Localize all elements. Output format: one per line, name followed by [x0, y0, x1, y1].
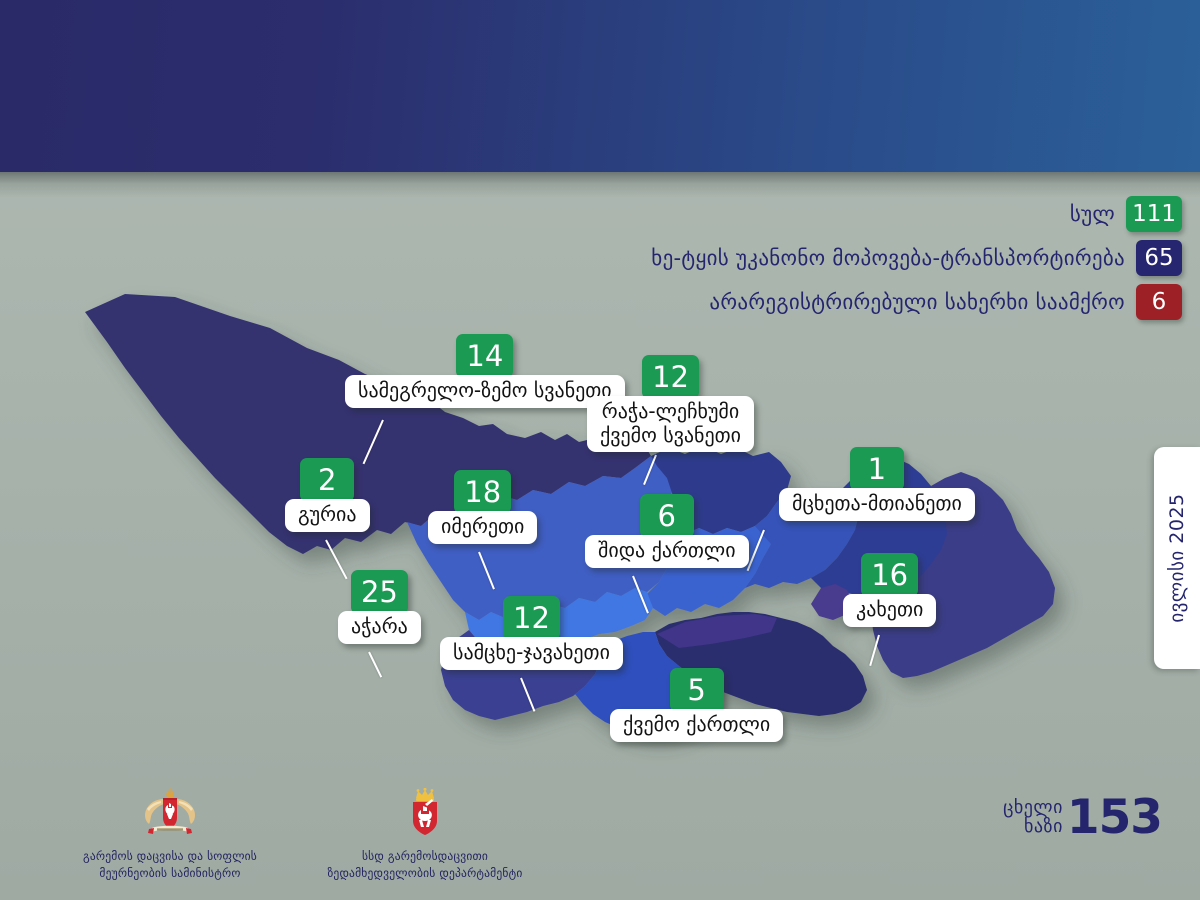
callout-label-kvemo-kartli: ქვემო ქართლი: [610, 709, 783, 742]
legend-label-illegal-logging: ხე-ტყის უკანონო მოპოვება-ტრანსპორტირება: [651, 248, 1125, 269]
callout-value-kakheti: 16: [861, 553, 918, 597]
callout-kvemo-kartli[interactable]: 5 ქვემო ქართლი: [610, 668, 783, 742]
hotline-word-line2: ხაზი: [1003, 818, 1063, 836]
georgia-coat-of-arms-icon: [138, 788, 202, 838]
callout-label-shida-kartli: შიდა ქართლი: [585, 535, 749, 568]
footer-logo-department: სსდ გარემოსდაცვითი ზედამხედველობის დეპარ…: [305, 788, 545, 881]
callout-shida-kartli[interactable]: 6 შიდა ქართლი: [585, 494, 749, 568]
legend: სულ 111 ხე-ტყის უკანონო მოპოვება-ტრანსპო…: [651, 196, 1182, 328]
callout-samtskhe-javakheti[interactable]: 12 სამცხე-ჯავახეთი: [440, 596, 623, 670]
callout-label-guria: გურია: [285, 499, 370, 532]
callout-label-samtskhe: სამცხე-ჯავახეთი: [440, 637, 623, 670]
department-emblem-icon: [401, 788, 449, 838]
callout-label-imereti: იმერეთი: [428, 511, 537, 544]
header-band: [0, 0, 1200, 172]
legend-row-illegal-logging: ხე-ტყის უკანონო მოპოვება-ტრანსპორტირება …: [651, 240, 1182, 276]
callout-mtskheta-mtianeti[interactable]: 1 მცხეთა-მთიანეთი: [779, 447, 975, 521]
legend-label-unregistered-sawmill: არარეგისტრირებული სახერხი საამქრო: [709, 292, 1125, 313]
hotline-words: ცხელი ხაზი: [1003, 799, 1063, 836]
callout-guria[interactable]: 2 გურია: [285, 458, 370, 532]
date-tab-label: ივლისი 2025: [1166, 493, 1188, 622]
callout-adjara[interactable]: 25 აჭარა: [338, 570, 421, 644]
legend-badge-unregistered-sawmill: 6: [1136, 284, 1182, 320]
callout-value-guria: 2: [300, 458, 354, 502]
legend-row-total: სულ 111: [651, 196, 1182, 232]
callout-value-racha: 12: [642, 355, 699, 399]
callout-value-shida-kartli: 6: [640, 494, 694, 538]
callout-racha-lechkhumi[interactable]: 12 რაჭა-ლეჩხუმი ქვემო სვანეთი: [587, 355, 754, 452]
callout-label-kakheti: კახეთი: [843, 594, 936, 627]
callout-value-imereti: 18: [454, 470, 511, 514]
callout-label-samegrelo: სამეგრელო-ზემო სვანეთი: [345, 375, 625, 408]
footer-logo-ministry: გარემოს დაცვისა და სოფლის მეურნეობის სამ…: [60, 788, 280, 881]
footer-logo-caption-ministry: გარემოს დაცვისა და სოფლის მეურნეობის სამ…: [60, 848, 280, 881]
callout-samegrelo-zemo-svaneti[interactable]: 14 სამეგრელო-ზემო სვანეთი: [345, 334, 625, 408]
callout-label-mtskheta: მცხეთა-მთიანეთი: [779, 488, 975, 521]
callout-label-racha: რაჭა-ლეჩხუმი ქვემო სვანეთი: [587, 396, 754, 452]
infographic-poster: უკანონო ტყითსარგებლობის სტატისტიკა სულ 1…: [0, 0, 1200, 900]
legend-label-total: სულ: [1070, 204, 1115, 225]
hotline-number: 153: [1067, 798, 1162, 838]
callout-value-samtskhe: 12: [503, 596, 560, 640]
callout-value-mtskheta: 1: [850, 447, 904, 491]
callout-imereti[interactable]: 18 იმერეთი: [428, 470, 537, 544]
callout-label-adjara: აჭარა: [338, 611, 421, 644]
legend-row-unregistered-sawmill: არარეგისტრირებული სახერხი საამქრო 6: [651, 284, 1182, 320]
header-shadow: [0, 172, 1200, 198]
callout-value-samegrelo: 14: [456, 334, 513, 378]
legend-badge-illegal-logging: 65: [1136, 240, 1182, 276]
hotline: ცხელი ხაზი 153: [1003, 798, 1162, 838]
legend-badge-total: 111: [1126, 196, 1182, 232]
callout-value-adjara: 25: [351, 570, 408, 614]
callout-kakheti[interactable]: 16 კახეთი: [843, 553, 936, 627]
date-tab: ივლისი 2025: [1154, 447, 1200, 669]
footer-logo-caption-department: სსდ გარემოსდაცვითი ზედამხედველობის დეპარ…: [305, 848, 545, 881]
callout-value-kvemo-kartli: 5: [670, 668, 724, 712]
